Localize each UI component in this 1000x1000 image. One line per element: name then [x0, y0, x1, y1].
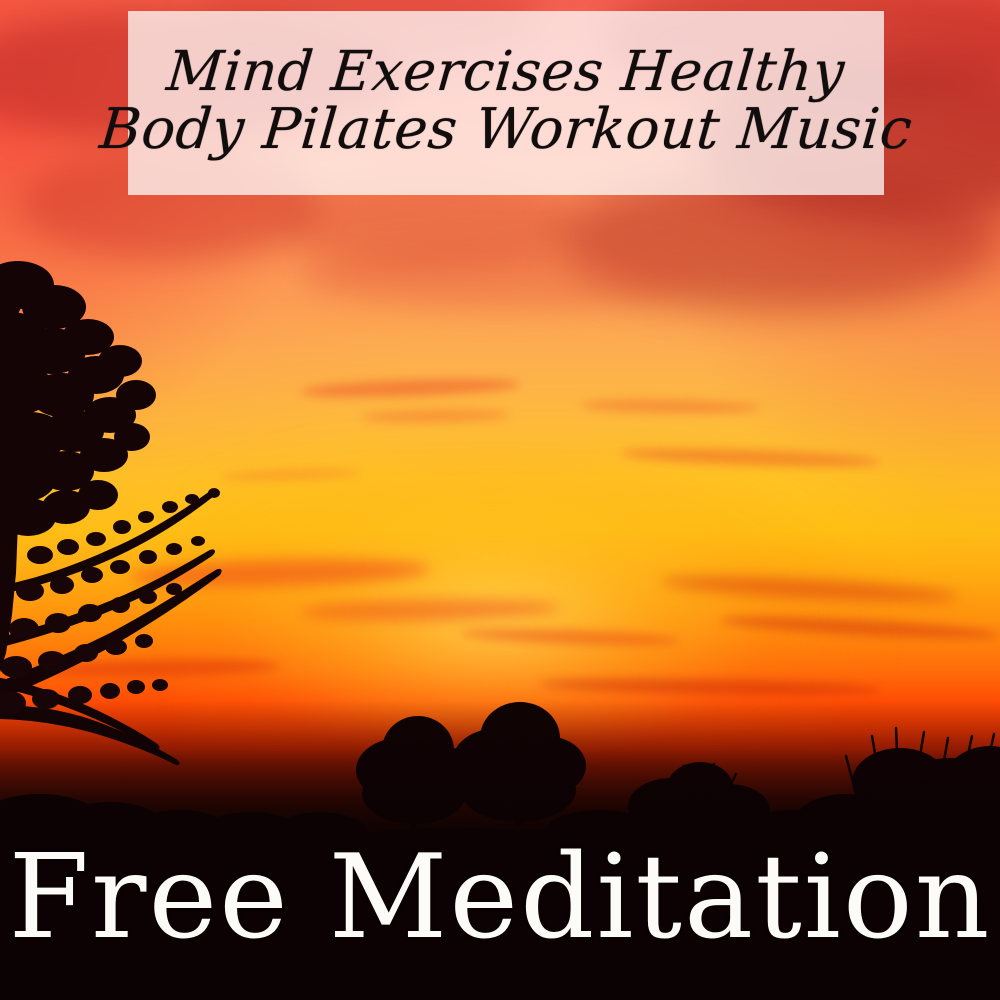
cloud-streak: [220, 468, 360, 483]
cloud-streak: [300, 376, 520, 400]
cloud-streak: [300, 598, 560, 623]
cloud-streak: [620, 445, 880, 469]
cloud-mass: [300, 240, 700, 310]
album-cover: Mind Exercises Healthy Body Pilates Work…: [0, 0, 1000, 1000]
subtitle-line-1: Mind Exercises Healthy: [165, 42, 848, 101]
cloud-streak: [360, 409, 510, 424]
subtitle-band: Mind Exercises Healthy Body Pilates Work…: [128, 11, 884, 195]
cloud-streak: [540, 677, 880, 697]
cloud-streak: [580, 398, 760, 414]
cloud-streak: [460, 626, 680, 648]
album-title: Free Meditation: [0, 840, 1000, 956]
cloud-streak: [130, 556, 431, 590]
cloud-streak: [720, 613, 1000, 643]
cloud-streak: [40, 658, 280, 678]
cloud-streak: [660, 572, 961, 606]
subtitle-line-2: Body Pilates Workout Music: [97, 100, 914, 160]
